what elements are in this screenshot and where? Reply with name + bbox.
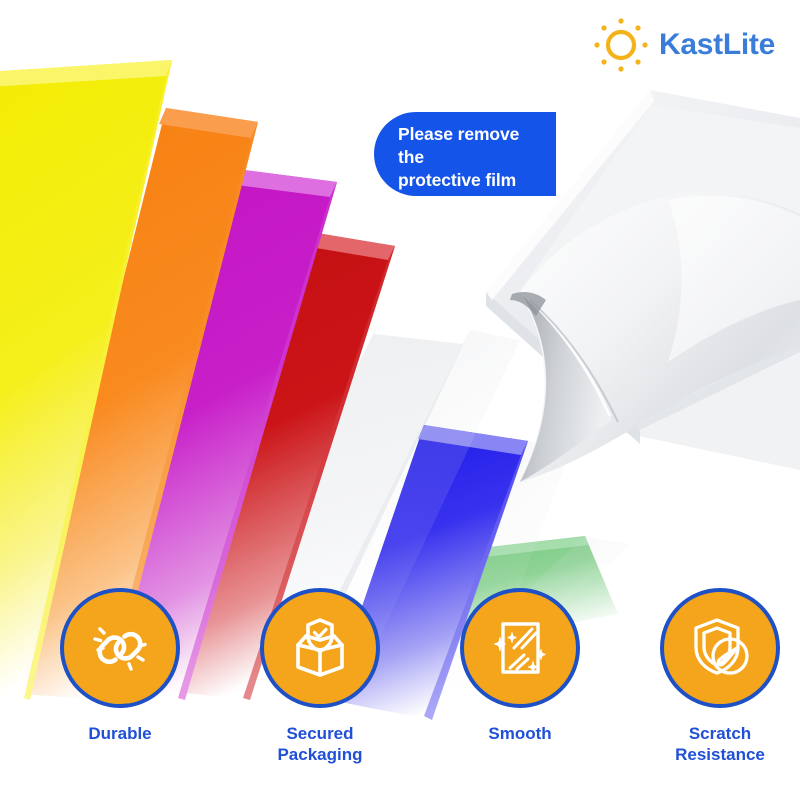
callout-line-3: before using bbox=[398, 192, 546, 215]
feature-label: Scratch Resistance bbox=[675, 724, 765, 765]
scratch-resistance-badge bbox=[660, 588, 780, 708]
brand-logo: KastLite bbox=[592, 16, 775, 74]
callout-line-1: Please remove the bbox=[398, 123, 546, 169]
feature-label: Smooth bbox=[488, 724, 551, 745]
chain-link-icon bbox=[84, 612, 156, 684]
shield-box-icon bbox=[284, 612, 356, 684]
feature-scratch-resistance: Scratch Resistance bbox=[640, 588, 800, 765]
feature-smooth: Smooth bbox=[440, 588, 600, 745]
product-image-canvas: KastLite Please remove the protective fi… bbox=[0, 0, 800, 800]
feature-label: Secured Packaging bbox=[277, 724, 362, 765]
sun-icon bbox=[592, 16, 650, 74]
durable-badge bbox=[60, 588, 180, 708]
protective-film-callout: Please remove the protective film before… bbox=[374, 112, 556, 196]
feature-secured-packaging: Secured Packaging bbox=[240, 588, 400, 765]
secured-packaging-badge bbox=[260, 588, 380, 708]
feature-badge-row: Durable Secured Packaging bbox=[0, 588, 800, 778]
feature-label: Durable bbox=[88, 724, 151, 745]
callout-line-2: protective film bbox=[398, 169, 546, 192]
sparkle-panel-icon bbox=[484, 612, 556, 684]
shield-blade-icon bbox=[684, 612, 756, 684]
feature-durable: Durable bbox=[40, 588, 200, 745]
smooth-badge bbox=[460, 588, 580, 708]
brand-wordmark: KastLite bbox=[659, 30, 775, 60]
